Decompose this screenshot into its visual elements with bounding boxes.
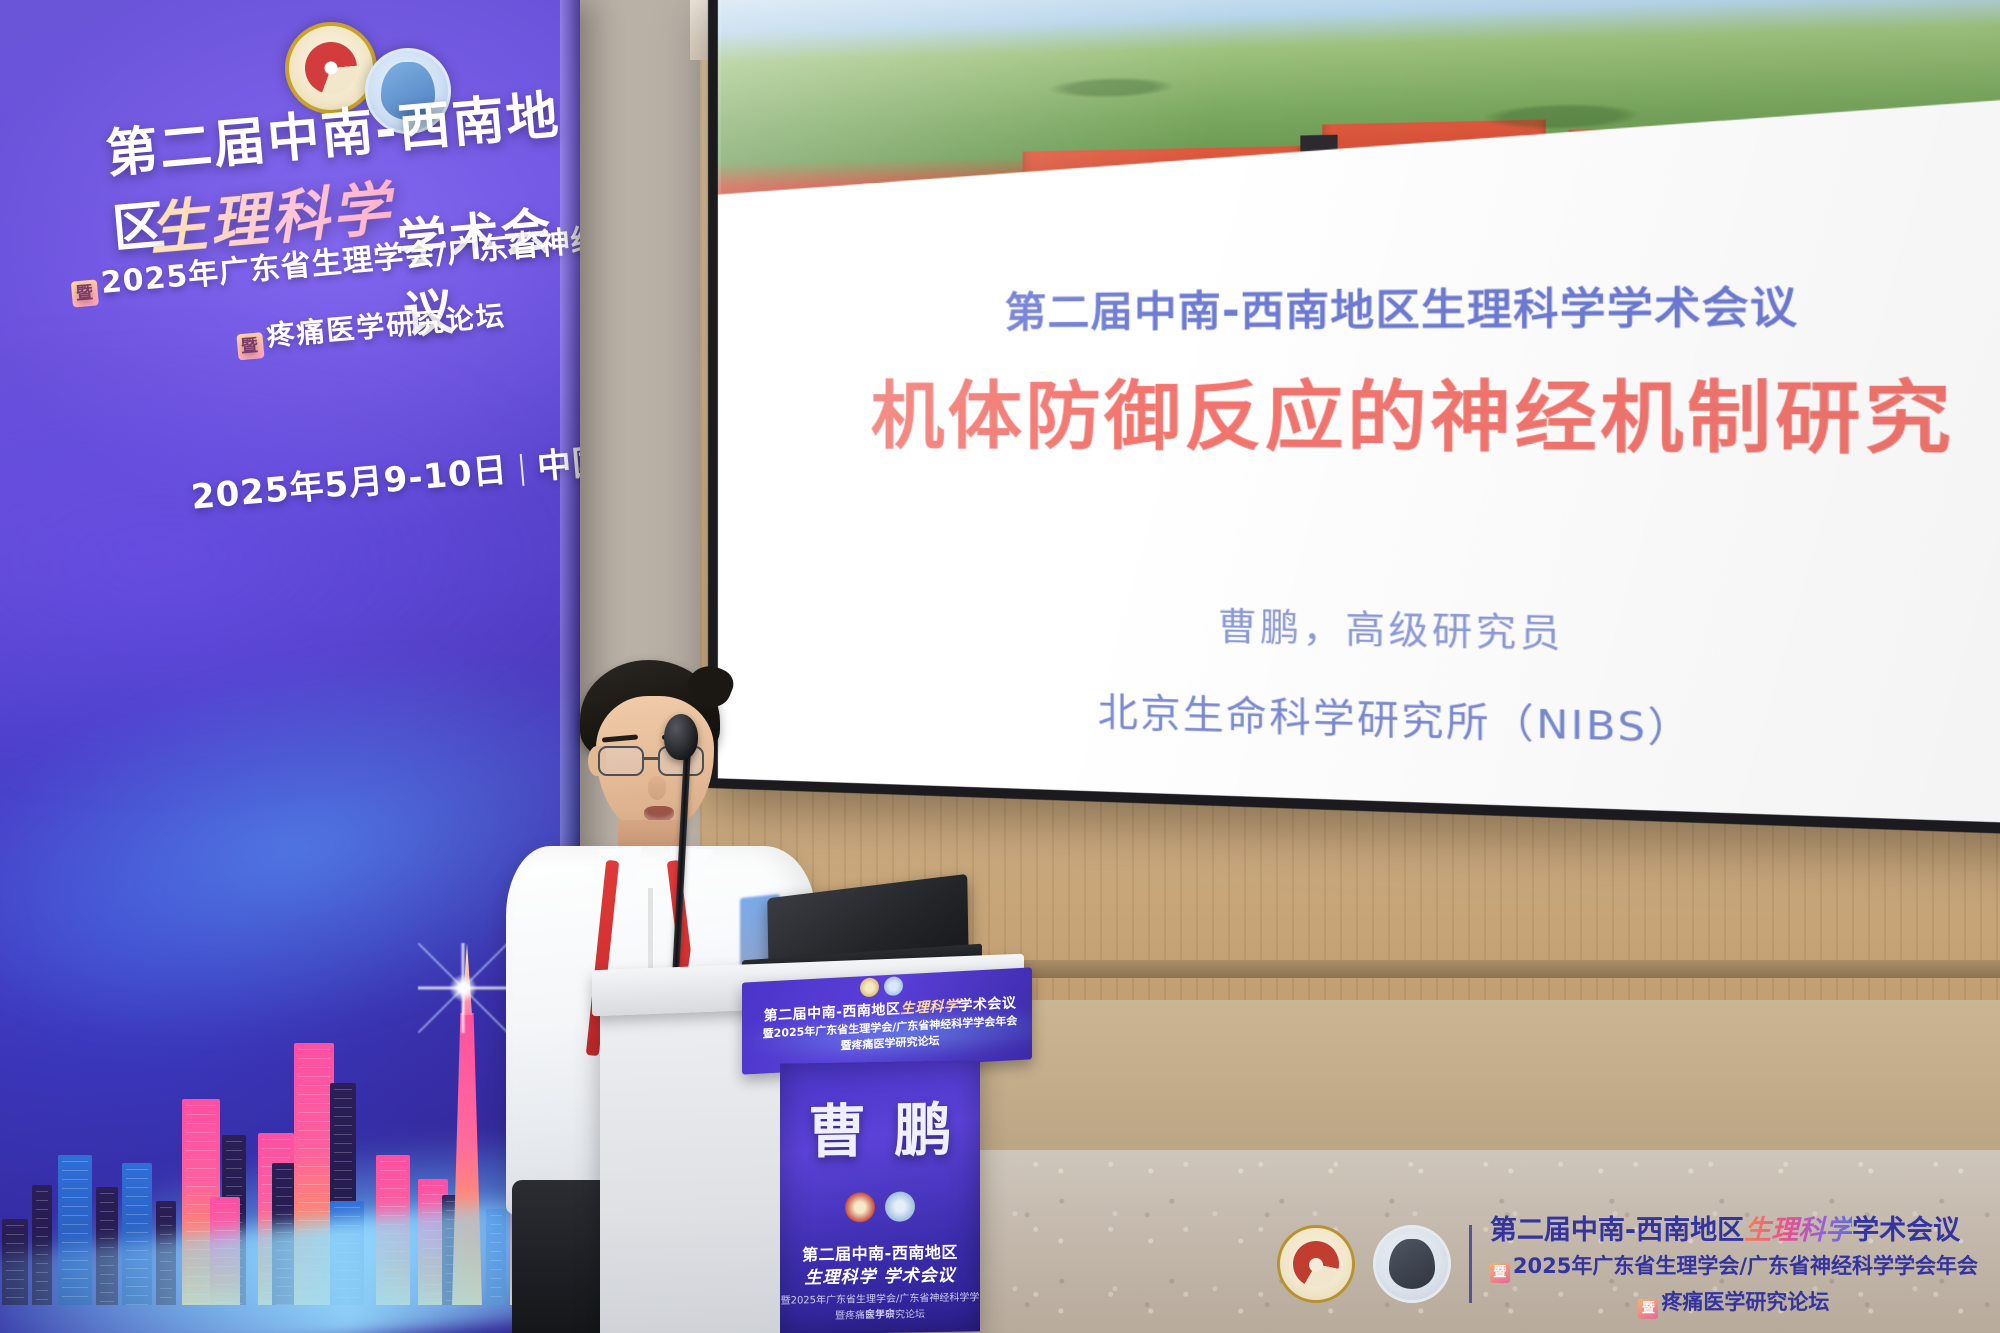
placard-line2: 生理科学 学术会议 — [780, 1260, 980, 1288]
ji-badge-icon: 暨 — [1490, 1263, 1510, 1283]
watermark-divider — [1469, 1225, 1472, 1303]
microphone-head-icon — [664, 714, 698, 760]
projection-screen-frame: NIBS 第二届中南-西南地区生理科学学术会议 机体防御反应的神经机制研究 曹鹏… — [708, 0, 2000, 839]
slide-author: 曹鹏，高级研究员 — [718, 588, 2000, 672]
guangdong-physiological-society-logo — [1277, 1225, 1355, 1303]
speaker-name-placard: 曹鹏 第二届中南-西南地区 生理科学 学术会议 暨2025年广东省生理学会/广东… — [780, 1060, 980, 1333]
neuroscience-society-logo — [884, 976, 903, 996]
projection-screen: NIBS 第二届中南-西南地区生理科学学术会议 机体防御反应的神经机制研究 曹鹏… — [718, 0, 2000, 827]
slide-subtitle: 第二届中南-西南地区生理科学学术会议 — [718, 269, 2000, 340]
watermark-line3: 暨疼痛医学研究论坛 — [1490, 1286, 1978, 1319]
slide-affiliation: 北京生命科学研究所（NIBS） — [718, 670, 2000, 767]
watermark-line1-c: 学术会议 — [1852, 1215, 1960, 1246]
watermark-text-block: 第二届中南-西南地区生理科学学术会议 暨2025年广东省生理学会/广东省神经科学… — [1490, 1208, 1978, 1319]
placard-line4: 暨疼痛医学研究论坛 — [780, 1304, 980, 1322]
podium-banner-line1-c: 学术会议 — [958, 995, 1016, 1014]
divider — [520, 454, 525, 486]
podium-banner-logos — [860, 976, 903, 997]
ji-badge-icon: 暨 — [236, 332, 264, 360]
ji-badge-icon: 暨 — [71, 279, 99, 307]
slide-content: 第二届中南-西南地区生理科学学术会议 机体防御反应的神经机制研究 曹鹏，高级研究… — [718, 230, 2000, 827]
watermark-line3-text: 疼痛医学研究论坛 — [1661, 1290, 1829, 1314]
watermark-line1-a: 第二届中南-西南地区 — [1490, 1215, 1744, 1246]
ji-badge-icon: 暨 — [1638, 1299, 1658, 1319]
neuroscience-society-logo — [885, 1191, 915, 1222]
guangdong-physiological-society-logo — [860, 977, 879, 997]
watermark-line2: 暨2025年广东省生理学会/广东省神经科学学会年会 — [1490, 1250, 1978, 1283]
glasses-icon — [596, 746, 718, 776]
podium-banner: 第二届中南-西南地区生理科学学术会议 暨2025年广东省生理学会/广东省神经科学… — [742, 967, 1032, 1074]
nibs-campus-aerial-photo: NIBS — [718, 0, 2000, 248]
watermark-line1-b: 生理科学 — [1744, 1215, 1852, 1246]
guangdong-physiological-society-logo — [845, 1192, 875, 1223]
watermark-line1: 第二届中南-西南地区生理科学学术会议 — [1490, 1208, 1978, 1247]
placard-logos — [780, 1190, 980, 1223]
placard-speaker-name: 曹鹏 — [780, 1082, 980, 1169]
podium-banner-line1-b: 生理科学 — [900, 998, 958, 1017]
slide-title: 机体防御反应的神经机制研究 — [718, 352, 2000, 470]
conference-watermark: 第二届中南-西南地区生理科学学术会议 暨2025年广东省生理学会/广东省神经科学… — [1277, 1208, 1978, 1319]
screenshot-root: NIBS 第二届中南-西南地区生理科学学术会议 机体防御反应的神经机制研究 曹鹏… — [0, 0, 2000, 1333]
watermark-line2-text: 2025年广东省生理学会/广东省神经科学学会年会 — [1513, 1254, 1978, 1278]
neuroscience-society-logo — [1373, 1225, 1451, 1303]
nose — [648, 776, 666, 800]
